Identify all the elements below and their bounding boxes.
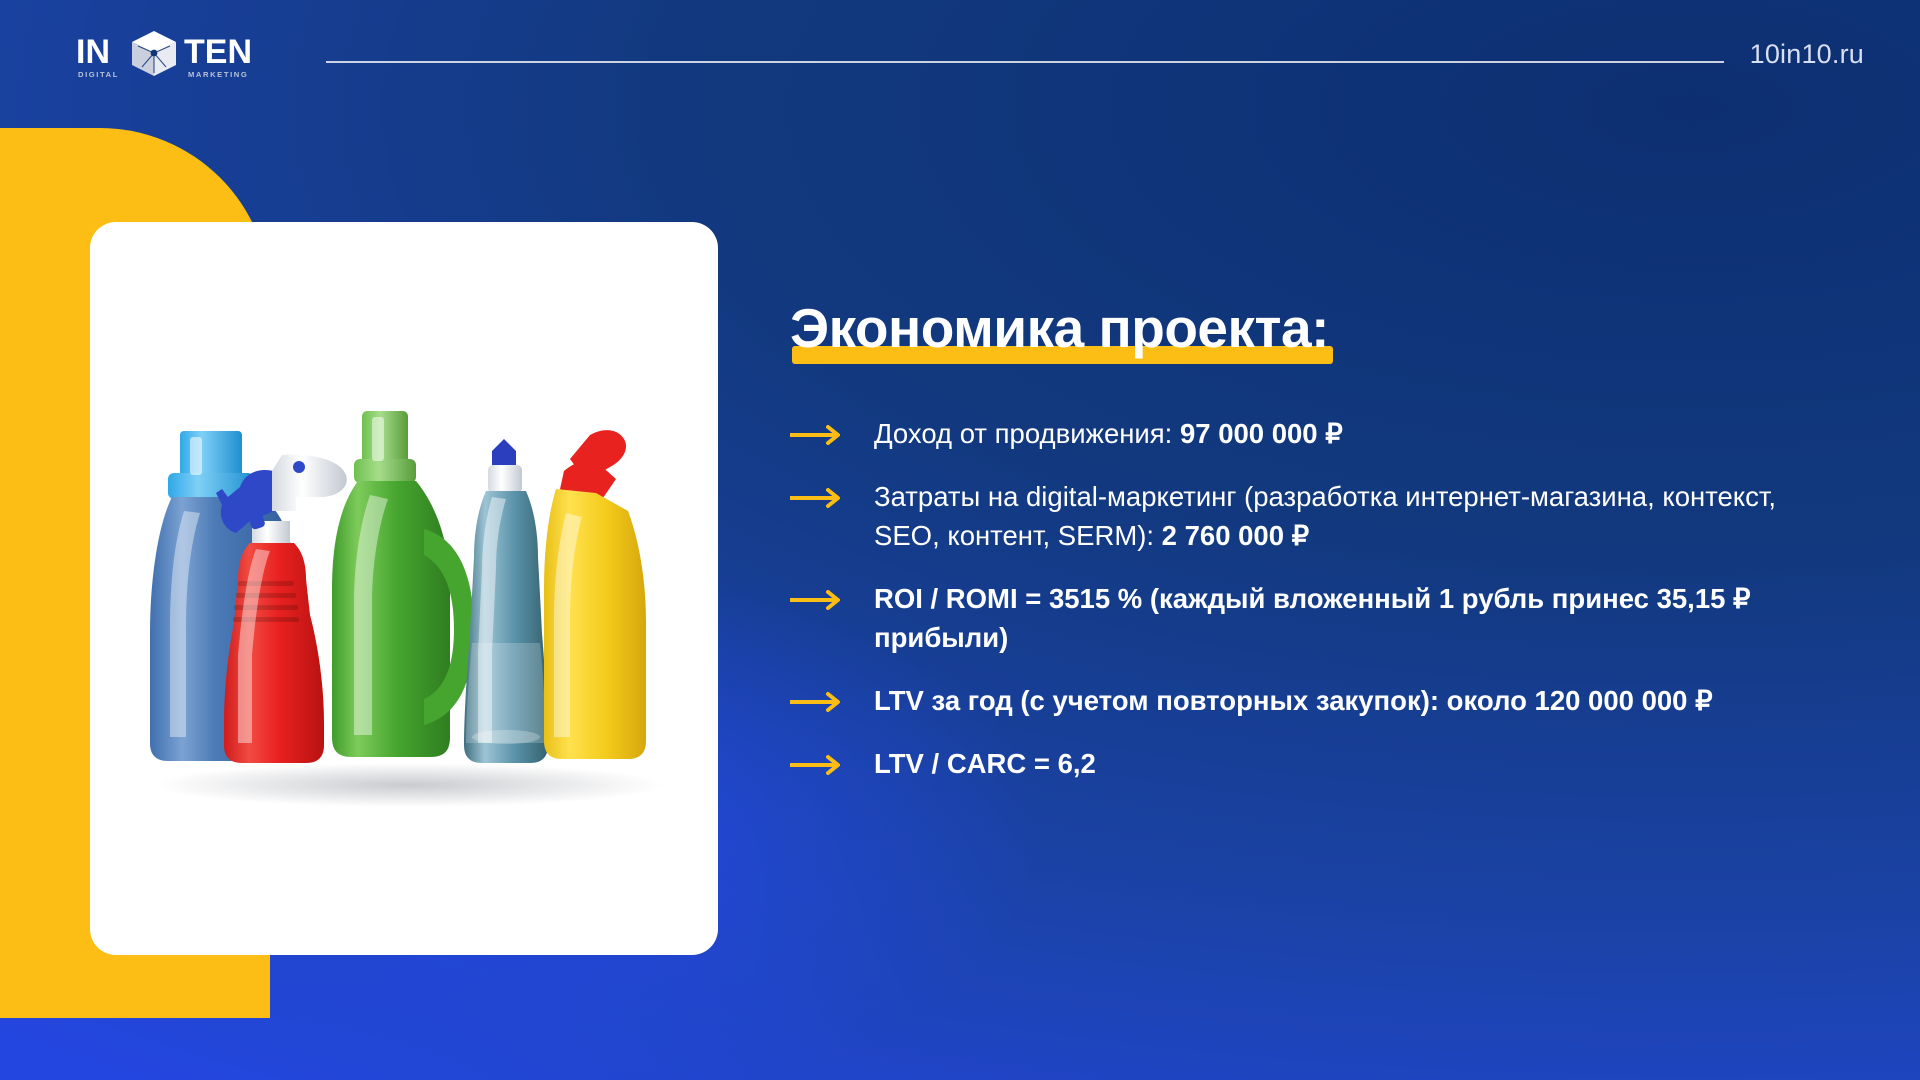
list-item-text: Затраты на digital-маркетинг (разработка… (874, 477, 1849, 555)
arrow-right-icon (790, 754, 848, 776)
list-item-text-bold: 97 000 000 ₽ (1180, 418, 1343, 449)
slide-root: IN TEN DIGITAL MARKETING IN TEN D I G I … (0, 0, 1920, 1080)
list-item: ROI / ROMI = 3515 % (каждый вложенный 1 … (790, 579, 1850, 657)
list-item-text-bold: ROI / ROMI = 3515 % (каждый вложенный 1 … (874, 583, 1751, 653)
list-item-text-plain: Доход от продвижения: (874, 418, 1180, 449)
brand-logo[interactable]: IN TEN DIGITAL MARKETING IN TEN D I G I … (76, 27, 294, 83)
yellow-toilet-cleaner-bottle (544, 430, 646, 759)
list-item-text: ROI / ROMI = 3515 % (каждый вложенный 1 … (874, 579, 1849, 657)
list-item: Доход от продвижения: 97 000 000 ₽ (790, 414, 1850, 453)
product-image-card (90, 222, 718, 955)
arrow-right-icon (790, 589, 848, 611)
svg-text:IN: IN (76, 33, 110, 71)
svg-text:TEN: TEN (184, 33, 252, 71)
arrow-right-icon (790, 691, 848, 713)
main-content: Экономика проекта: Доход от продвижения:… (790, 300, 1850, 783)
red-spray-bottle (216, 455, 347, 763)
svg-text:MARKETING: MARKETING (188, 70, 248, 79)
teal-dish-soap-bottle (464, 439, 548, 763)
list-item: LTV / CARC = 6,2 (790, 744, 1850, 783)
list-item-text: Доход от продвижения: 97 000 000 ₽ (874, 414, 1343, 453)
green-detergent-bottle (332, 411, 474, 757)
list-item-text-bold: 2 760 000 ₽ (1162, 520, 1309, 551)
arrow-right-icon (790, 424, 848, 446)
list-item: LTV за год (с учетом повторных закупок):… (790, 681, 1850, 720)
page-title: Экономика проекта: (790, 300, 1329, 358)
bullet-list: Доход от продвижения: 97 000 000 ₽ Затра… (790, 414, 1850, 783)
cube-icon (132, 31, 176, 76)
svg-text:DIGITAL: DIGITAL (78, 70, 119, 79)
arrow-right-icon (790, 487, 848, 509)
list-item-text: LTV / CARC = 6,2 (874, 744, 1096, 783)
page-title-wrap: Экономика проекта: (790, 300, 1329, 358)
site-url-label: 10in10.ru (1750, 39, 1864, 72)
list-item-text: LTV за год (с учетом повторных закупок):… (874, 681, 1713, 720)
list-item-text-bold: LTV / CARC = 6,2 (874, 748, 1096, 779)
header-divider-line (326, 61, 1724, 63)
slide-header: IN TEN DIGITAL MARKETING IN TEN D I G I … (0, 0, 1920, 110)
list-item: Затраты на digital-маркетинг (разработка… (790, 477, 1850, 555)
cleaning-bottles-illustration (124, 393, 684, 813)
list-item-text-plain: Затраты на digital-маркетинг (разработка… (874, 481, 1776, 551)
list-item-text-bold: LTV за год (с учетом повторных закупок):… (874, 685, 1713, 716)
logo-svg: IN TEN DIGITAL MARKETING (76, 27, 294, 83)
